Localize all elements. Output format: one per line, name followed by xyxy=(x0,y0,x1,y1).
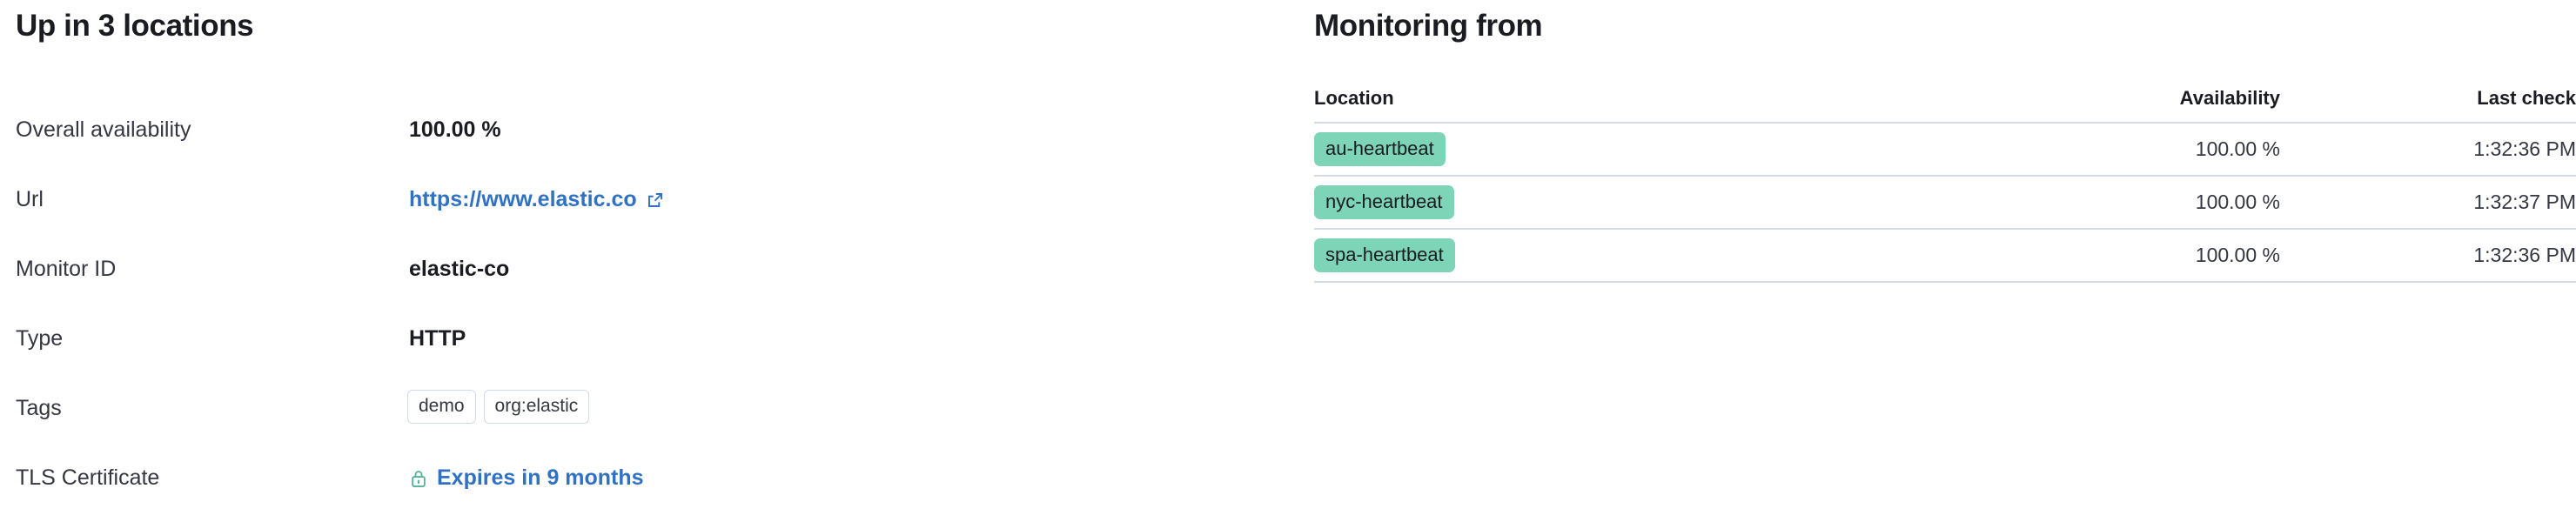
cell-location: spa-heartbeat xyxy=(1314,229,1923,282)
monitor-detail-list: Overall availability 100.00 % Url https:… xyxy=(0,104,1297,522)
status-badge: nyc-heartbeat xyxy=(1314,185,1454,219)
cell-availability: 100.00 % xyxy=(1923,176,2280,229)
detail-row-overall-availability: Overall availability 100.00 % xyxy=(0,104,1297,174)
monitor-url-link[interactable]: https://www.elastic.co xyxy=(409,184,665,214)
cell-location: au-heartbeat xyxy=(1314,123,1923,176)
cell-last-check: 1:32:37 PM xyxy=(2280,176,2576,229)
detail-value-type: HTTP xyxy=(409,324,466,353)
tls-certificate-text: Expires in 9 months xyxy=(437,463,644,492)
detail-value-overall-availability: 100.00 % xyxy=(409,115,501,144)
detail-label-url: Url xyxy=(16,184,44,214)
tag-pill[interactable]: demo xyxy=(407,390,476,424)
column-header-availability[interactable]: Availability xyxy=(1923,87,2280,123)
cell-availability: 100.00 % xyxy=(1923,123,2280,176)
column-header-location[interactable]: Location xyxy=(1314,87,1923,123)
monitoring-locations-panel: Monitoring from Location Availability La… xyxy=(1314,0,2576,519)
table-row[interactable]: nyc-heartbeat 100.00 % 1:32:37 PM xyxy=(1314,176,2576,229)
cell-availability: 100.00 % xyxy=(1923,229,2280,282)
tag-list: demo org:elastic xyxy=(407,390,589,424)
column-header-last-check[interactable]: Last check xyxy=(2280,87,2576,123)
detail-label-tags: Tags xyxy=(16,393,62,423)
detail-label-tls-certificate: TLS Certificate xyxy=(16,463,159,492)
monitoring-from-title: Monitoring from xyxy=(1314,7,1542,45)
cell-last-check: 1:32:36 PM xyxy=(2280,123,2576,176)
tls-certificate-link[interactable]: Expires in 9 months xyxy=(409,463,644,492)
table-row[interactable]: spa-heartbeat 100.00 % 1:32:36 PM xyxy=(1314,229,2576,282)
monitor-url-text: https://www.elastic.co xyxy=(409,184,637,214)
status-badge: au-heartbeat xyxy=(1314,132,1446,166)
detail-label-type: Type xyxy=(16,324,63,353)
table-body: au-heartbeat 100.00 % 1:32:36 PM nyc-hea… xyxy=(1314,123,2576,282)
cell-location: nyc-heartbeat xyxy=(1314,176,1923,229)
tag-pill[interactable]: org:elastic xyxy=(484,390,590,424)
detail-row-tls-certificate: TLS Certificate Expires in 9 months xyxy=(0,452,1297,522)
detail-value-monitor-id: elastic-co xyxy=(409,254,509,284)
detail-row-monitor-id: Monitor ID elastic-co xyxy=(0,244,1297,313)
monitor-detail-page: Up in 3 locations Overall availability 1… xyxy=(0,0,2576,519)
page-title: Up in 3 locations xyxy=(16,7,253,45)
table-header: Location Availability Last check xyxy=(1314,87,2576,123)
status-badge: spa-heartbeat xyxy=(1314,238,1455,272)
detail-row-type: Type HTTP xyxy=(0,313,1297,383)
monitor-summary-panel: Up in 3 locations Overall availability 1… xyxy=(0,0,1297,519)
table-header-row: Location Availability Last check xyxy=(1314,87,2576,123)
table-row[interactable]: au-heartbeat 100.00 % 1:32:36 PM xyxy=(1314,123,2576,176)
cell-last-check: 1:32:36 PM xyxy=(2280,229,2576,282)
detail-label-overall-availability: Overall availability xyxy=(16,115,191,144)
lock-icon xyxy=(409,469,428,488)
detail-row-url: Url https://www.elastic.co xyxy=(0,174,1297,244)
external-link-icon xyxy=(646,191,665,210)
detail-row-tags: Tags demo org:elastic xyxy=(0,383,1297,452)
detail-label-monitor-id: Monitor ID xyxy=(16,254,116,284)
monitoring-locations-table: Location Availability Last check au-hear… xyxy=(1314,87,2576,283)
